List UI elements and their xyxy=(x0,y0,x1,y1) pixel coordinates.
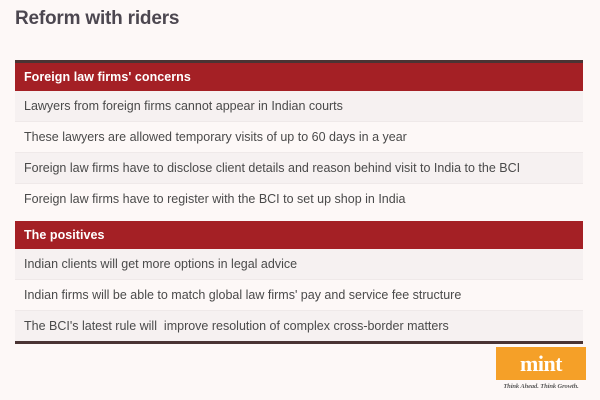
section-header-concerns: Foreign law firms' concerns xyxy=(15,63,583,91)
table-row: Indian clients will get more options in … xyxy=(15,249,583,280)
table-row: Indian firms will be able to match globa… xyxy=(15,280,583,311)
section-header-positives: The positives xyxy=(15,221,583,249)
table-row: The BCI's latest rule will improve resol… xyxy=(15,311,583,341)
logo-box: mint xyxy=(496,347,586,380)
content-table: Foreign law firms' concerns Lawyers from… xyxy=(15,60,583,344)
table-row: These lawyers are allowed temporary visi… xyxy=(15,122,583,153)
page-title: Reform with riders xyxy=(15,8,179,30)
table-row: Foreign law firms have to disclose clien… xyxy=(15,153,583,184)
mint-logo: mint Think Ahead. Think Growth. xyxy=(496,347,586,390)
logo-tagline: Think Ahead. Think Growth. xyxy=(496,383,586,390)
section-divider xyxy=(15,214,583,221)
table-row: Foreign law firms have to register with … xyxy=(15,184,583,214)
table-row: Lawyers from foreign firms cannot appear… xyxy=(15,91,583,122)
logo-wordmark: mint xyxy=(520,353,562,375)
